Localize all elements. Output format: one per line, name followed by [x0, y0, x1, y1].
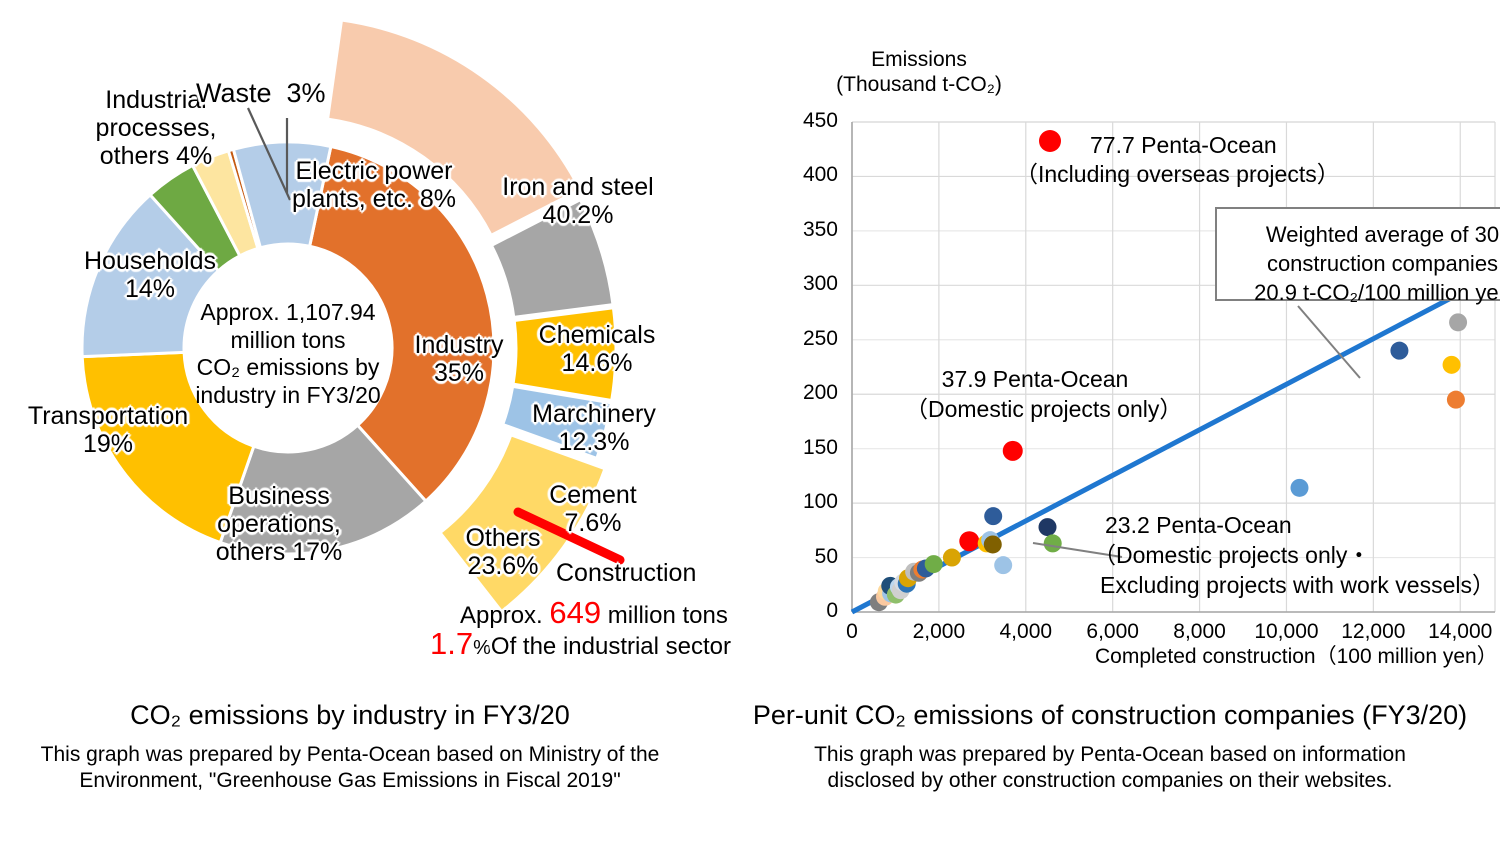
scatter-point-30	[1447, 391, 1465, 409]
x-tick-label-14000: 14,000	[1410, 620, 1500, 644]
donut-label-iron-and-steel: Iron and steel 40.2%	[478, 173, 678, 229]
donut-label-others: Others 23.6%	[444, 524, 562, 580]
x-tick-label-6000: 6,000	[1063, 620, 1163, 644]
scatter-chart-panel: Emissions (Thousand t-CO₂) Completed con…	[750, 0, 1500, 866]
legend-dot-penta-ocean-777	[1039, 130, 1061, 152]
donut-label-machinery: Marchinery 12.3%	[516, 400, 672, 456]
donut-label-waste: Waste 3%	[196, 78, 326, 108]
x-tick-label-0: 0	[802, 620, 902, 644]
caption-right-subtitle: This graph was prepared by Penta-Ocean b…	[760, 742, 1460, 795]
scatter-point-28	[1449, 313, 1467, 331]
x-tick-label-8000: 8,000	[1150, 620, 1250, 644]
annotation-penta-ocean-777: 77.7 Penta-Ocean （Including overseas pro…	[1090, 131, 1340, 190]
scatter-point-27	[1390, 342, 1408, 360]
scatter-point-29	[1443, 356, 1461, 374]
caption-right-title: Per-unit CO₂ emissions of construction c…	[740, 700, 1480, 731]
x-tick-label-10000: 10,000	[1236, 620, 1336, 644]
y-tick-label-100: 100	[780, 490, 838, 514]
y-tick-label-350: 350	[780, 218, 838, 242]
scatter-point-20	[984, 535, 1002, 553]
x-tick-label-2000: 2,000	[889, 620, 989, 644]
x-tick-label-12000: 12,000	[1323, 620, 1423, 644]
y-tick-label-400: 400	[780, 163, 838, 187]
y-tick-label-50: 50	[780, 545, 838, 569]
scatter-point-21	[984, 507, 1002, 525]
scatter-point-15	[925, 555, 943, 573]
annotation-penta-ocean-379: 37.9 Penta-Ocean （Domestic projects only…	[905, 365, 1165, 425]
x-axis-title: Completed construction（100 million yen）	[1095, 645, 1498, 669]
y-tick-label-250: 250	[780, 327, 838, 351]
donut-label-construction: Construction	[556, 559, 696, 587]
donut-center-text: Approx. 1,107.94 million tons CO₂ emissi…	[170, 299, 406, 409]
infographic-root: Industrial processes, others 4% Waste 3%…	[0, 0, 1500, 866]
donut-label-transportation: Transportation 19%	[4, 402, 212, 458]
scatter-point-24	[1039, 518, 1057, 536]
y-tick-label-450: 450	[780, 109, 838, 133]
donut-label-industry: Industry 35%	[392, 331, 526, 387]
donut-label-business-operations: Business operations, others 17%	[190, 482, 368, 566]
donut-chart-panel: Industrial processes, others 4% Waste 3%…	[0, 0, 750, 866]
scatter-point-22	[994, 556, 1012, 574]
y-tick-label-150: 150	[780, 436, 838, 460]
scatter-point-26	[1290, 479, 1308, 497]
donut-callout-tons: Approx. 649 million tons	[460, 596, 728, 631]
scatter-point-23	[1003, 441, 1023, 461]
donut-label-chemicals: Chemicals 14.6%	[520, 321, 674, 377]
caption-left-title: CO₂ emissions by industry in FY3/20	[30, 700, 670, 731]
y-tick-label-300: 300	[780, 272, 838, 296]
donut-label-households: Households 14%	[70, 247, 230, 303]
annotation-penta-ocean-232: 23.2 Penta-Ocean （Domestic projects only…	[1105, 511, 1495, 601]
donut-callout-percent: 1.7%Of the industrial sector	[430, 627, 731, 662]
x-tick-label-4000: 4,000	[976, 620, 1076, 644]
y-axis-title: Emissions (Thousand t-CO₂)	[814, 47, 1024, 97]
scatter-point-16	[943, 549, 961, 567]
scatter-point-17	[959, 531, 979, 551]
donut-label-electric-power: Electric power plants, etc. 8%	[281, 157, 467, 213]
scatter-point-25	[1044, 534, 1062, 552]
y-tick-label-200: 200	[780, 381, 838, 405]
weighted-average-box: Weighted average of 30 construction comp…	[1215, 207, 1500, 301]
caption-left-subtitle: This graph was prepared by Penta-Ocean b…	[0, 742, 700, 795]
weighted-average-leader-line	[1298, 306, 1360, 378]
